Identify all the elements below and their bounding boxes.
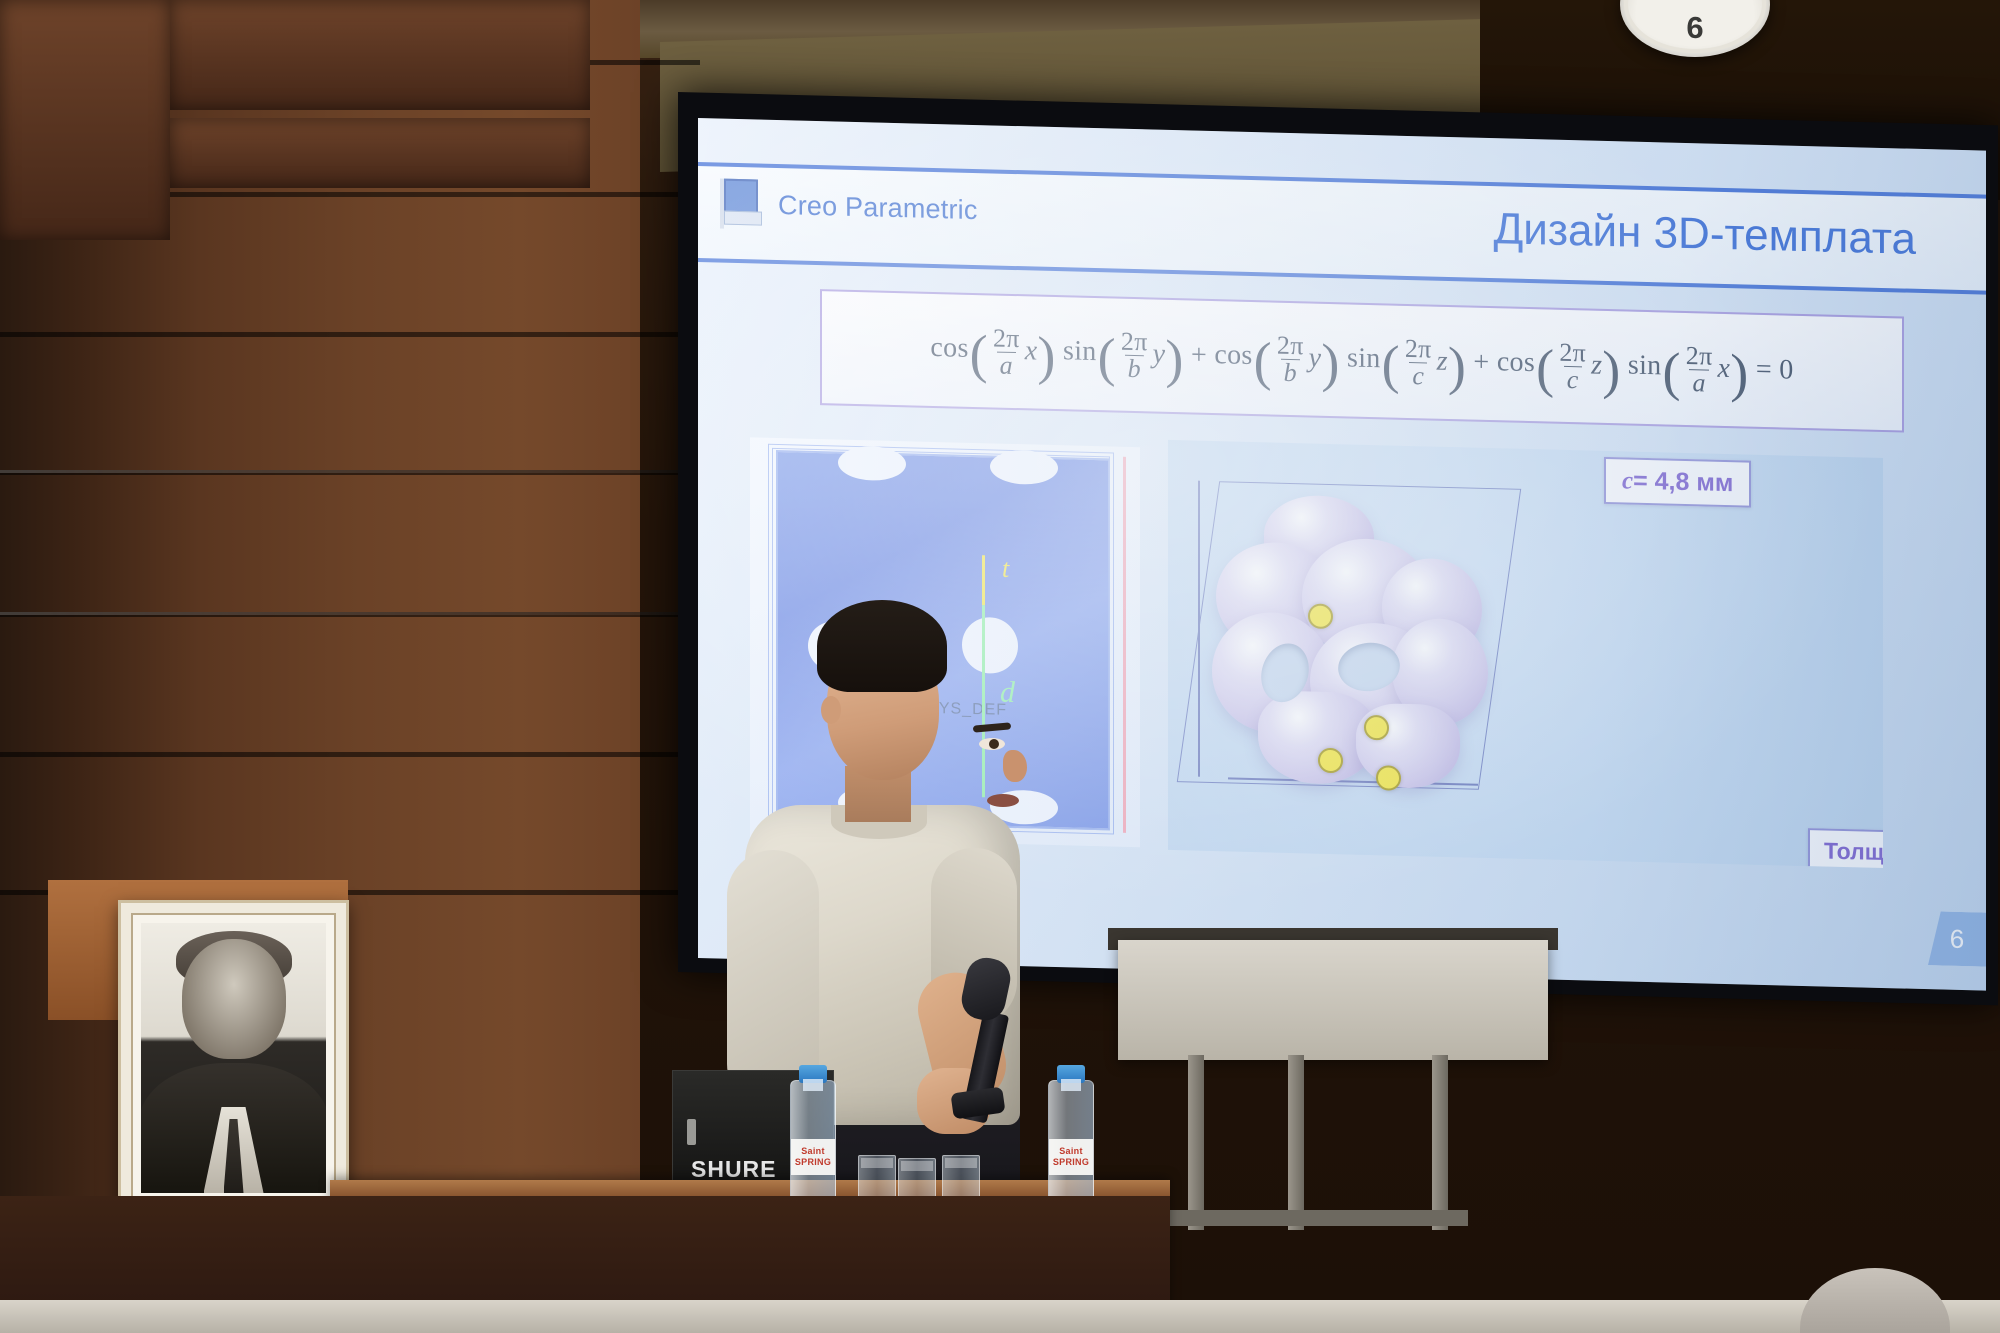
eq-den: b <box>1125 354 1144 381</box>
bottle-brand-2: SPRING <box>1053 1157 1089 1168</box>
bottle-neck <box>1061 1079 1081 1091</box>
dimension-label-t: t <box>1002 554 1009 584</box>
case-brand-label: SHURE <box>691 1156 777 1183</box>
eq-sin-2: sin <box>1347 343 1381 375</box>
eq-var: y <box>1153 338 1166 369</box>
water-bottle: Saint SPRING <box>1048 1080 1094 1212</box>
eq-cos-3: cos <box>1497 347 1535 379</box>
presenter-ear <box>821 696 841 724</box>
eq-den: c <box>1409 362 1427 389</box>
bottle-neck <box>803 1079 823 1091</box>
callout-c-text: = 4,8 мм <box>1633 467 1733 499</box>
wall-block <box>170 0 590 110</box>
eq-plus-1: + <box>1191 339 1207 370</box>
eq-var: x <box>1718 352 1731 383</box>
dimension-point <box>1376 765 1401 791</box>
eq-cos-1: cos <box>930 332 968 364</box>
water-bottle: Saint SPRING <box>790 1080 836 1212</box>
bottle-label: Saint SPRING <box>791 1139 835 1175</box>
wall-highlight-line <box>0 612 680 615</box>
gyroid-3d-view: c = 4,8 мм a = 4,8 мм Толщина стенки яче… <box>1168 440 1883 868</box>
podium <box>1118 940 1548 1060</box>
eq-sin-1: sin <box>1063 336 1097 368</box>
eq-num: 2π <box>1274 332 1307 359</box>
podium-leg <box>1288 1055 1304 1230</box>
tpms-equation: cos(2πax) sin(2πby) + cos(2πby) sin(2πcz… <box>930 323 1793 398</box>
bottle-label: Saint SPRING <box>1049 1139 1093 1175</box>
table-edge <box>330 1180 1170 1196</box>
eq-sin-3: sin <box>1628 350 1662 382</box>
eq-num: 2π <box>1556 339 1589 366</box>
slide-number: 6 <box>1928 911 1986 966</box>
dim-arrow-vertical <box>1198 481 1200 777</box>
eq-den: b <box>1281 358 1300 385</box>
eq-num: 2π <box>990 325 1023 352</box>
eq-den: c <box>1564 365 1582 392</box>
slide-header-band: Creo Parametric Дизайн 3D-темплата <box>698 162 1986 295</box>
floor <box>0 1300 2000 1333</box>
creo-logo-icon <box>720 177 766 232</box>
wall-highlight-line <box>0 470 680 473</box>
wall-block <box>0 0 170 240</box>
callout-c: c = 4,8 мм <box>1604 457 1751 508</box>
dimension-point <box>1318 748 1343 774</box>
dimension-point <box>1364 715 1389 741</box>
formula-box: cos(2πax) sin(2πby) + cos(2πby) sin(2πcz… <box>820 289 1904 432</box>
portrait-photo <box>141 923 326 1193</box>
podium-shelf <box>1168 1210 1468 1226</box>
app-label: Creo Parametric <box>778 190 978 226</box>
eq-num: 2π <box>1683 342 1716 369</box>
podium-leg <box>1432 1055 1448 1230</box>
podium-leg <box>1188 1055 1204 1230</box>
callout-t-text: Толщина стенки ячейки <box>1824 838 1883 868</box>
callout-wall-thickness: Толщина стенки ячейки t = 0,4 мм <box>1808 828 1883 868</box>
dimension-point <box>1308 603 1333 629</box>
eq-plus-2: + <box>1473 346 1489 377</box>
wall-block <box>170 118 590 188</box>
case-latch <box>687 1119 696 1145</box>
tpms-gyroid-model <box>1206 493 1516 791</box>
dimension-line-a <box>1123 457 1126 833</box>
dimension-line-t <box>982 555 985 605</box>
eq-num: 2π <box>1118 328 1151 355</box>
bottle-brand-1: Saint <box>801 1146 825 1157</box>
eq-num: 2π <box>1402 335 1435 362</box>
bottle-brand-2: SPRING <box>795 1157 831 1168</box>
framed-portrait <box>118 900 349 1216</box>
callout-c-var: c <box>1622 467 1633 495</box>
eq-equals-zero: = 0 <box>1756 353 1794 385</box>
presenter-hair <box>817 600 947 692</box>
wall-seam <box>0 332 700 337</box>
wall-seam <box>0 752 700 757</box>
eq-den: a <box>997 351 1016 378</box>
clock-number: 6 <box>1686 10 1703 46</box>
eq-cos-2: cos <box>1214 339 1252 371</box>
slide-title: Дизайн 3D-темплата <box>1493 204 1916 265</box>
eq-var: y <box>1309 342 1322 373</box>
eq-var: x <box>1025 335 1038 366</box>
screenshot-root: 6 Creo Parametric Дизайн 3D-темплата cos… <box>0 0 2000 1333</box>
eq-den: a <box>1689 369 1708 396</box>
eq-var: z <box>1591 349 1602 380</box>
eq-var: z <box>1437 345 1448 376</box>
bottle-brand-1: Saint <box>1059 1146 1083 1157</box>
